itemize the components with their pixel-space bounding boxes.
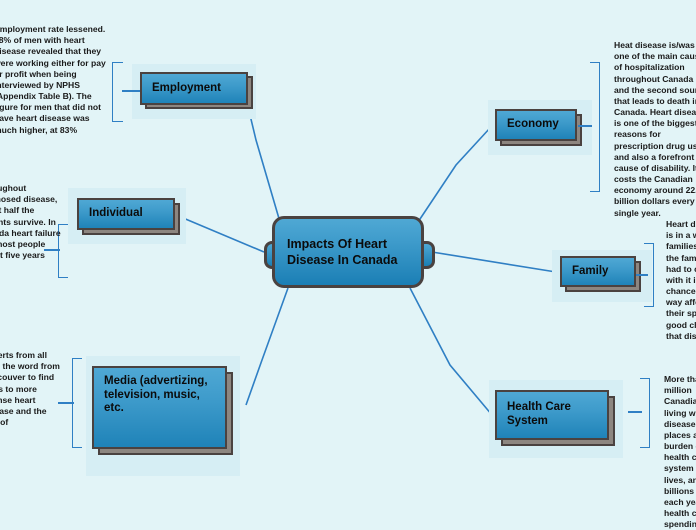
link-center-individual xyxy=(176,215,264,252)
node-healthcare-label: Health Care System xyxy=(497,401,607,428)
node-individual-label: Individual xyxy=(79,207,173,221)
node-family-label: Family xyxy=(562,265,634,279)
center-node[interactable]: Impacts Of Heart Disease In Canada xyxy=(272,216,424,288)
node-individual[interactable]: Individual xyxy=(77,198,175,230)
note-economy: Heat disease is/was one of the main caus… xyxy=(614,40,696,219)
note-media: Experts from all over the word from Vanc… xyxy=(0,350,64,428)
mindmap-canvas: Impacts Of Heart Disease In Canada Emplo… xyxy=(0,0,696,520)
link-center-family xyxy=(432,252,556,272)
note-individual: Throughout diagnosed disease, about half… xyxy=(0,183,64,272)
healthcare-note-stub xyxy=(628,411,642,413)
node-economy-label: Economy xyxy=(497,118,575,132)
node-family[interactable]: Family xyxy=(560,256,636,287)
note-family: Heart disease is in a way how families /… xyxy=(666,219,696,342)
healthcare-note-bracket xyxy=(640,378,650,448)
node-employment-label: Employment xyxy=(142,82,246,96)
family-note-stub xyxy=(636,274,648,276)
note-healthcare: More than 1.3 million Canadians are livi… xyxy=(664,374,696,530)
node-media[interactable]: Media (advertizing, television, music, e… xyxy=(92,366,227,449)
link-center-economy xyxy=(418,128,490,222)
employment-note-bracket xyxy=(112,62,123,122)
economy-note-stub xyxy=(578,125,592,127)
link-center-healthcare xyxy=(410,288,492,415)
node-media-label: Media (advertizing, television, music, e… xyxy=(94,375,225,416)
employment-note-stub xyxy=(122,90,142,92)
node-healthcare[interactable]: Health Care System xyxy=(495,390,609,440)
center-node-label: Impacts Of Heart Disease In Canada xyxy=(275,236,421,269)
economy-note-bracket xyxy=(590,62,600,192)
link-center-media xyxy=(246,288,288,405)
node-economy[interactable]: Economy xyxy=(495,109,577,141)
node-employment[interactable]: Employment xyxy=(140,72,248,105)
note-employment: Employment rate lessened. 48% of men wit… xyxy=(0,24,110,136)
